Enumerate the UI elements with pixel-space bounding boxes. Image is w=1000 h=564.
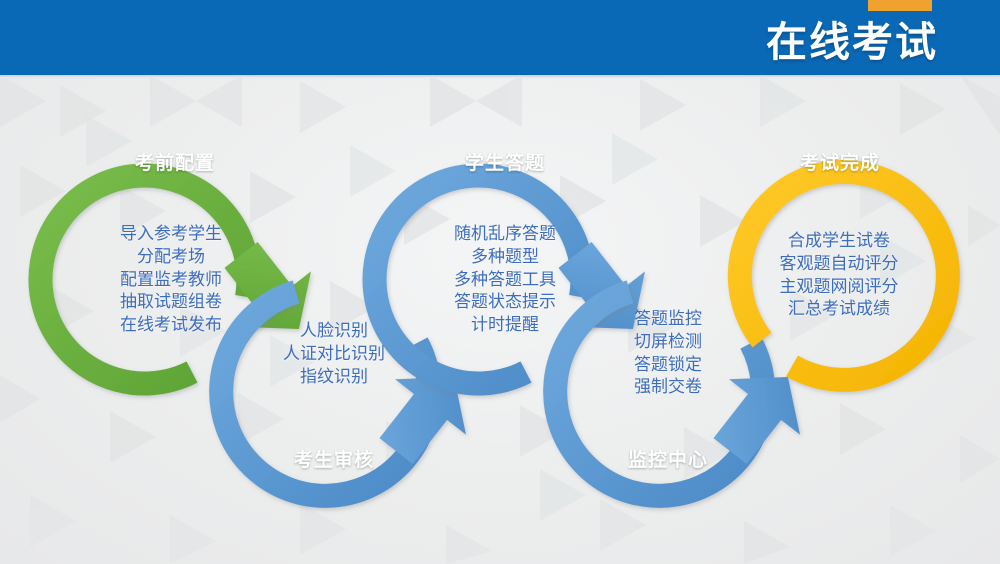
list-item: 在线考试发布 xyxy=(91,314,251,337)
list-item: 随机乱序答题 xyxy=(425,223,585,246)
list-item: 答题状态提示 xyxy=(425,291,585,314)
list-item: 人脸识别 xyxy=(254,320,414,343)
ring-items-step-3: 随机乱序答题 多种题型 多种答题工具 答题状态提示 计时提醒 xyxy=(425,223,585,337)
slide-canvas: 在线考试 xyxy=(0,0,1000,564)
list-item: 配置监考教师 xyxy=(91,269,251,292)
list-item: 计时提醒 xyxy=(425,314,585,337)
ring-items-step-4: 答题监控 切屏检测 答题锁定 强制交卷 xyxy=(593,308,743,399)
list-item: 人证对比识别 xyxy=(254,343,414,366)
ring-title-step-1: 考前配置 xyxy=(120,148,230,175)
list-item: 主观题网阅评分 xyxy=(759,276,919,299)
list-item: 切屏检测 xyxy=(593,331,743,354)
ring-items-step-2: 人脸识别 人证对比识别 指纹识别 xyxy=(254,320,414,388)
list-item: 导入参考学生 xyxy=(91,223,251,246)
ring-items-step-1: 导入参考学生 分配考场 配置监考教师 抽取试题组卷 在线考试发布 xyxy=(91,223,251,337)
list-item: 客观题自动评分 xyxy=(759,253,919,276)
ring-items-step-5: 合成学生试卷 客观题自动评分 主观题网阅评分 汇总考试成绩 xyxy=(759,230,919,321)
list-item: 汇总考试成绩 xyxy=(759,298,919,321)
list-item: 多种答题工具 xyxy=(425,269,585,292)
ring-title-step-5: 考试完成 xyxy=(785,148,895,175)
list-item: 分配考场 xyxy=(91,246,251,269)
header-bar: 在线考试 xyxy=(0,0,1000,75)
ring-title-step-4: 监控中心 xyxy=(613,445,723,472)
list-item: 抽取试题组卷 xyxy=(91,291,251,314)
page-title: 在线考试 xyxy=(766,8,938,68)
ring-title-step-2: 考生审核 xyxy=(279,445,389,472)
ring-title-step-3: 学生答题 xyxy=(450,148,560,175)
list-item: 强制交卷 xyxy=(593,376,743,399)
list-item: 答题监控 xyxy=(593,308,743,331)
list-item: 合成学生试卷 xyxy=(759,230,919,253)
list-item: 答题锁定 xyxy=(593,354,743,377)
list-item: 指纹识别 xyxy=(254,366,414,389)
list-item: 多种题型 xyxy=(425,246,585,269)
